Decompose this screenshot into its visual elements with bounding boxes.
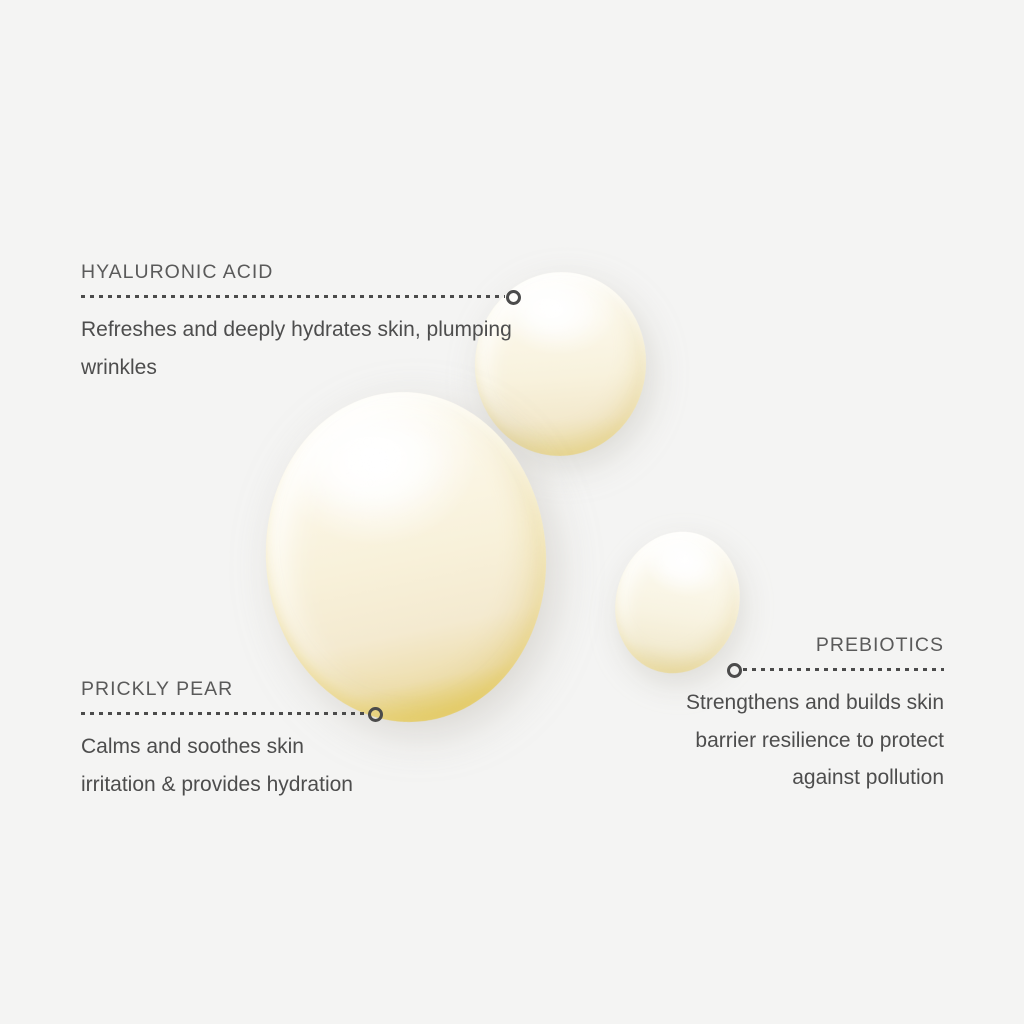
callout-prebiotics: PREBIOTICS Strengthens and builds skin b… <box>627 634 944 797</box>
callout-title-prickly-pear: PRICKLY PEAR <box>81 678 383 701</box>
ingredient-infographic: HYALURONIC ACID Refreshes and deeply hyd… <box>0 0 1024 1024</box>
leader-line-prebiotics <box>627 663 944 675</box>
leader-line-hyaluronic-acid <box>81 290 521 302</box>
callout-title-prebiotics: PREBIOTICS <box>627 634 944 657</box>
callout-prickly-pear: PRICKLY PEAR Calms and soothes skin irri… <box>81 678 383 803</box>
dotted-line <box>81 295 505 298</box>
dotted-line <box>743 668 944 671</box>
callout-description-prebiotics: Strengthens and builds skin barrier resi… <box>627 684 944 796</box>
leader-node-icon <box>368 707 383 722</box>
dotted-line <box>81 712 367 715</box>
callout-title-hyaluronic-acid: HYALURONIC ACID <box>81 261 521 284</box>
callout-hyaluronic-acid: HYALURONIC ACID Refreshes and deeply hyd… <box>81 261 521 386</box>
callout-description-hyaluronic-acid: Refreshes and deeply hydrates skin, plum… <box>81 311 521 386</box>
leader-node-icon <box>506 290 521 305</box>
leader-node-icon <box>727 663 742 678</box>
leader-line-prickly-pear <box>81 707 383 719</box>
callout-description-prickly-pear: Calms and soothes skin irritation & prov… <box>81 728 383 803</box>
